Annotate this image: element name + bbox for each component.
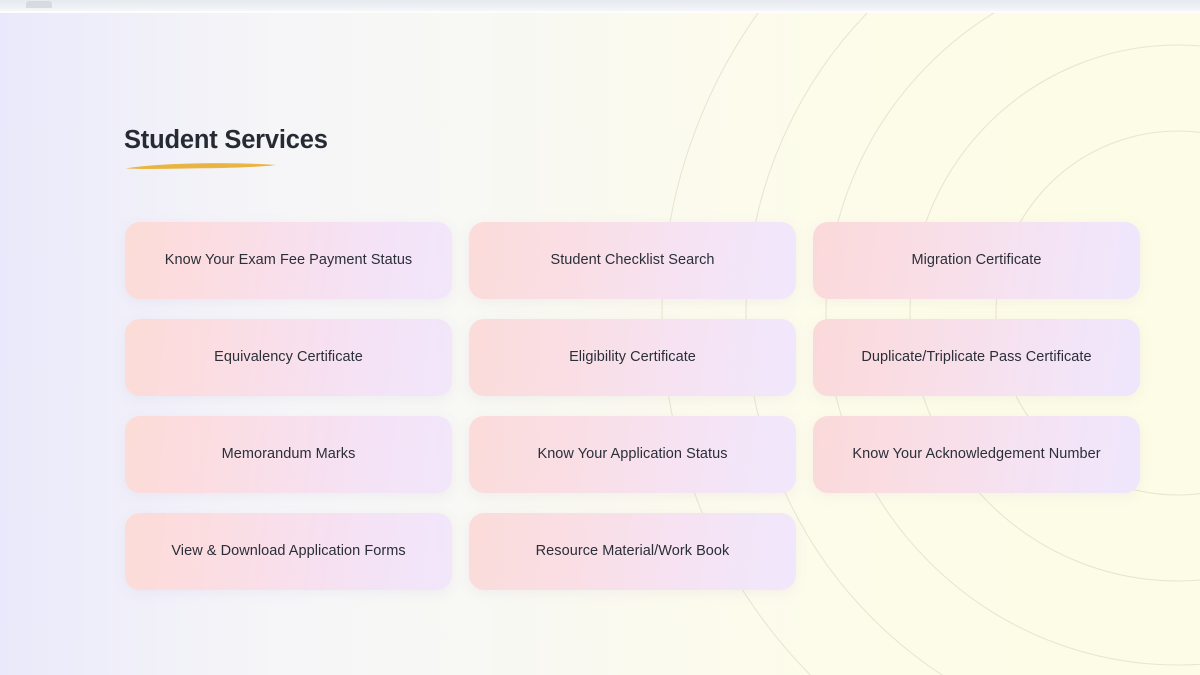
service-card-label: Student Checklist Search bbox=[469, 251, 796, 269]
service-card[interactable]: Resource Material/Work Book bbox=[469, 513, 796, 590]
service-card[interactable]: Duplicate/Triplicate Pass Certificate bbox=[813, 319, 1140, 396]
service-card-label: View & Download Application Forms bbox=[125, 542, 452, 560]
service-card-label: Know Your Acknowledgement Number bbox=[813, 445, 1140, 463]
service-card[interactable]: Eligibility Certificate bbox=[469, 319, 796, 396]
page-heading-block: Student Services bbox=[124, 125, 744, 156]
service-card-label: Resource Material/Work Book bbox=[469, 542, 796, 560]
service-card[interactable]: Know Your Acknowledgement Number bbox=[813, 416, 1140, 493]
page-content: Student Services Know Your Exam Fee Paym… bbox=[0, 13, 1200, 675]
browser-tab-stub[interactable] bbox=[26, 1, 52, 8]
service-card-label: Know Your Exam Fee Payment Status bbox=[125, 251, 452, 269]
service-card-label: Equivalency Certificate bbox=[125, 348, 452, 366]
browser-chrome-divider bbox=[0, 11, 1200, 13]
service-card-label: Memorandum Marks bbox=[125, 445, 452, 463]
service-card[interactable]: Student Checklist Search bbox=[469, 222, 796, 299]
service-card-label: Duplicate/Triplicate Pass Certificate bbox=[813, 348, 1140, 366]
browser-chrome-strip bbox=[0, 0, 1200, 11]
service-card-label: Migration Certificate bbox=[813, 251, 1140, 269]
service-cards-grid: Know Your Exam Fee Payment Status Studen… bbox=[125, 222, 1139, 590]
title-underline-brushstroke bbox=[125, 161, 277, 172]
student-services-page: Student Services Know Your Exam Fee Paym… bbox=[0, 0, 1200, 675]
service-card[interactable]: View & Download Application Forms bbox=[125, 513, 452, 590]
service-card[interactable]: Migration Certificate bbox=[813, 222, 1140, 299]
service-card[interactable]: Know Your Application Status bbox=[469, 416, 796, 493]
service-card[interactable]: Equivalency Certificate bbox=[125, 319, 452, 396]
service-card[interactable]: Know Your Exam Fee Payment Status bbox=[125, 222, 452, 299]
service-card-label: Know Your Application Status bbox=[469, 445, 796, 463]
service-card[interactable]: Memorandum Marks bbox=[125, 416, 452, 493]
service-card-label: Eligibility Certificate bbox=[469, 348, 796, 366]
page-title: Student Services bbox=[124, 125, 744, 156]
